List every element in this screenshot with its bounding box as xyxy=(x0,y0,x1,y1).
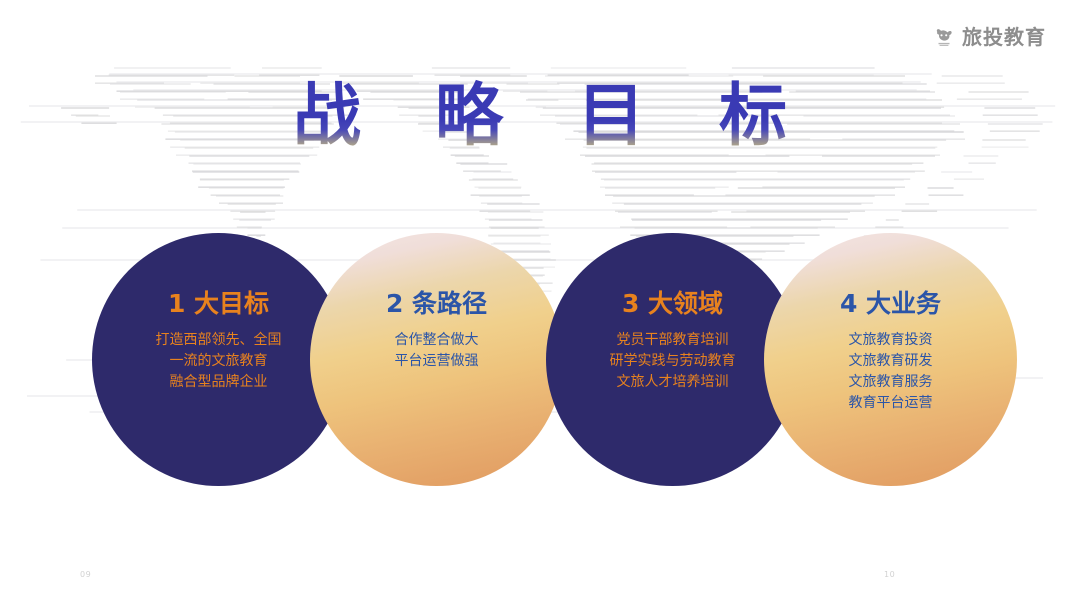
circle-item-4[interactable]: 4 大业务 文旅教育投资 文旅教育研发 文旅教育服务 教育平台运营 xyxy=(764,233,1017,486)
circle-1-lines: 打造西部领先、全国 一流的文旅教育 融合型品牌企业 xyxy=(156,330,282,393)
circle-item-3[interactable]: 3 大领域 党员干部教育培训 研学实践与劳动教育 文旅人才培养培训 xyxy=(546,233,799,486)
page-number-right: 10 xyxy=(884,570,895,579)
brand-logo: 旅投教育 xyxy=(933,26,1046,48)
circle-4-line-2: 文旅教育研发 xyxy=(849,351,933,372)
circle-4-line-4: 教育平台运营 xyxy=(849,393,933,414)
circle-2-heading: 2 条路径 xyxy=(386,289,487,319)
page-title-text: 战略目标 xyxy=(219,78,861,156)
circle-1-line-1: 打造西部领先、全国 xyxy=(156,330,282,351)
circle-3-line-2: 研学实践与劳动教育 xyxy=(610,351,736,372)
circle-4-line-1: 文旅教育投资 xyxy=(849,330,933,351)
circle-4-line-3: 文旅教育服务 xyxy=(849,372,933,393)
circle-3-heading: 3 大领域 xyxy=(622,289,723,319)
circle-2-lines: 合作整合做大 平台运营做强 xyxy=(395,330,479,372)
page-number-left: 09 xyxy=(80,570,91,579)
circle-2-line-1: 合作整合做大 xyxy=(395,330,479,351)
circle-1-line-2: 一流的文旅教育 xyxy=(156,351,282,372)
circle-2-line-2: 平台运营做强 xyxy=(395,351,479,372)
circle-1-line-3: 融合型品牌企业 xyxy=(156,372,282,393)
logo-wordmark: 旅投教育 xyxy=(962,26,1046,48)
circle-3-line-3: 文旅人才培养培训 xyxy=(610,372,736,393)
panda-emblem-icon xyxy=(933,26,955,48)
circle-1-heading: 1 大目标 xyxy=(168,289,269,319)
circle-3-lines: 党员干部教育培训 研学实践与劳动教育 文旅人才培养培训 xyxy=(610,330,736,393)
page-title: 战略目标 xyxy=(0,78,1080,156)
circle-item-1[interactable]: 1 大目标 打造西部领先、全国 一流的文旅教育 融合型品牌企业 xyxy=(92,233,345,486)
circle-4-heading: 4 大业务 xyxy=(840,289,941,319)
circle-3-line-1: 党员干部教育培训 xyxy=(610,330,736,351)
circle-item-2[interactable]: 2 条路径 合作整合做大 平台运营做强 xyxy=(310,233,563,486)
slide-canvas: 旅投教育 战略目标 1 大目标 打造西部领先、全国 一流的文旅教育 融合型品牌企… xyxy=(0,0,1080,608)
circle-4-lines: 文旅教育投资 文旅教育研发 文旅教育服务 教育平台运营 xyxy=(849,330,933,414)
